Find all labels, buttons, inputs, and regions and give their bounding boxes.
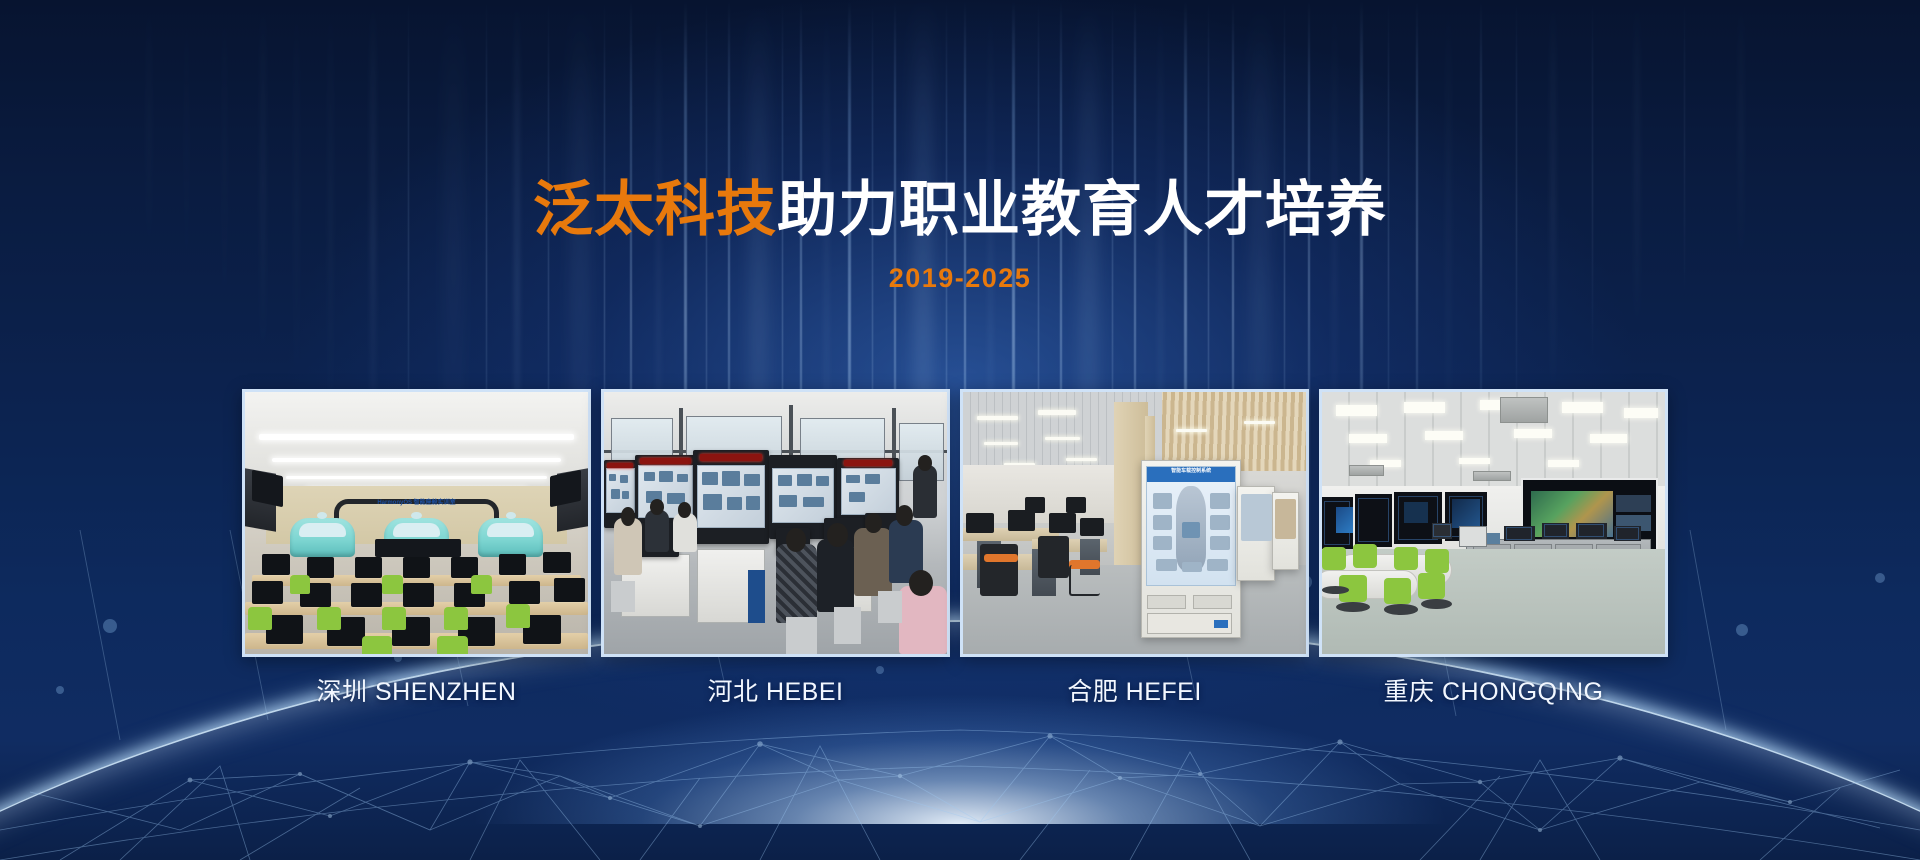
date-range-subtitle: 2019-2025 [0,263,1920,294]
promo-banner: 泛太科技助力职业教育人才培养 2019-2025 HarmonyOS 智能座舱实… [0,0,1920,860]
gallery-captions: 深圳 SHENZHEN 河北 HEBEI 合肥 HEFEI 重庆 CHONGQI… [242,672,1668,712]
gallery-card-hebei[interactable] [601,389,950,657]
gallery-card-chongqing[interactable] [1319,389,1668,657]
brand-name: 泛太科技 [533,176,777,243]
gallery-card-hefei[interactable]: 智能车载控制系统 [960,389,1309,657]
gallery-card-shenzhen[interactable]: HarmonyOS 智能座舱实训室 [242,389,591,657]
caption-hefei: 合肥 HEFEI [960,672,1309,712]
photo-chongqing-lab [1322,392,1665,654]
photo-hebei-workshop [604,392,947,654]
photo-gallery: HarmonyOS 智能座舱实训室 [242,389,1668,657]
page-title: 泛太科技助力职业教育人才培养 [0,178,1920,241]
photo-shenzhen-classroom: HarmonyOS 智能座舱实训室 [245,392,588,654]
title-tagline: 助力职业教育人才培养 [777,176,1387,243]
classroom-banner-text: HarmonyOS 智能座舱实训室 [348,497,485,506]
photo-hefei-lab: 智能车载控制系统 [963,392,1306,654]
cabinet-title-text: 智能车载控制系统 [1147,467,1235,481]
headline-block: 泛太科技助力职业教育人才培养 2019-2025 [0,178,1920,294]
caption-chongqing: 重庆 CHONGQING [1319,672,1668,712]
caption-hebei: 河北 HEBEI [601,672,950,712]
caption-shenzhen: 深圳 SHENZHEN [242,672,591,712]
